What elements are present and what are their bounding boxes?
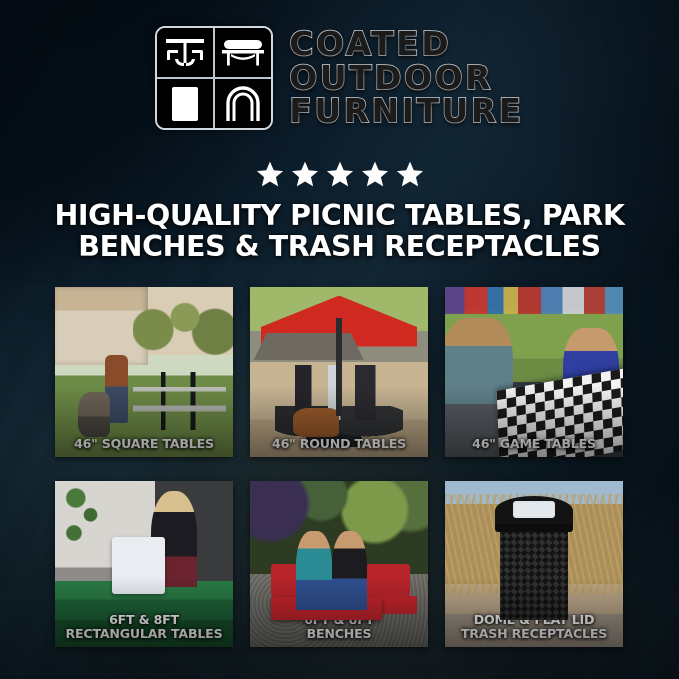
photo-caption-scrim [55, 481, 233, 647]
product-photo [55, 287, 233, 457]
star-icon [361, 160, 389, 188]
photo-caption-scrim [250, 287, 428, 457]
page-title-line-2: BENCHES & TRASH RECEPTACLES [28, 232, 651, 263]
brand-wordmark-line-1: COATED [289, 28, 523, 61]
page-title-line-1: HIGH-QUALITY PICNIC TABLES, PARK [54, 199, 624, 232]
bike-rack-arch-icon [223, 85, 263, 123]
photo-caption-scrim [250, 481, 428, 647]
brand-logo: COATED OUTDOOR FURNITURE [0, 26, 679, 130]
product-photo [55, 481, 233, 647]
logo-mark-grid [155, 26, 273, 130]
product-photo [250, 287, 428, 457]
product-photo [445, 287, 623, 457]
star-rating [0, 160, 679, 188]
park-bench-icon [220, 37, 266, 69]
logo-cell-park-bench [214, 28, 271, 78]
brand-wordmark: COATED OUTDOOR FURNITURE [289, 28, 523, 128]
product-tile[interactable]: 46" GAME TABLES [445, 287, 623, 457]
photo-caption-scrim [445, 287, 623, 457]
logo-cell-trash-receptacle [157, 78, 214, 128]
star-icon [326, 160, 354, 188]
brand-wordmark-line-2: OUTDOOR [289, 62, 523, 95]
picnic-table-icon [163, 36, 207, 70]
logo-cell-bike-rack-arch [214, 78, 271, 128]
photo-caption-scrim [55, 287, 233, 457]
trash-receptacle-icon [168, 84, 202, 124]
page-title: HIGH-QUALITY PICNIC TABLES, PARK BENCHES… [28, 201, 651, 263]
product-tile[interactable]: 46" ROUND TABLES [250, 287, 428, 457]
product-tile[interactable]: 6FT & 8FT RECTANGULAR TABLES [55, 481, 233, 647]
banner-content: COATED OUTDOOR FURNITURE HIGH-QUALITY PI… [0, 0, 679, 679]
product-tile[interactable]: 6FT & 8FT BENCHES [250, 481, 428, 647]
promotional-banner: COATED OUTDOOR FURNITURE HIGH-QUALITY PI… [0, 0, 679, 679]
star-icon [396, 160, 424, 188]
product-photo [445, 481, 623, 647]
logo-cell-picnic-table [157, 28, 214, 78]
product-tile[interactable]: DOME & FLAT LID TRASH RECEPTACLES [445, 481, 623, 647]
product-tile[interactable]: 46" SQUARE TABLES [55, 287, 233, 457]
photo-caption-scrim [445, 481, 623, 647]
star-icon [256, 160, 284, 188]
star-icon [291, 160, 319, 188]
brand-wordmark-line-3: FURNITURE [289, 95, 523, 128]
product-grid: 46" SQUARE TABLES46" ROUND TABLES46" GAM… [55, 287, 623, 647]
product-photo [250, 481, 428, 647]
